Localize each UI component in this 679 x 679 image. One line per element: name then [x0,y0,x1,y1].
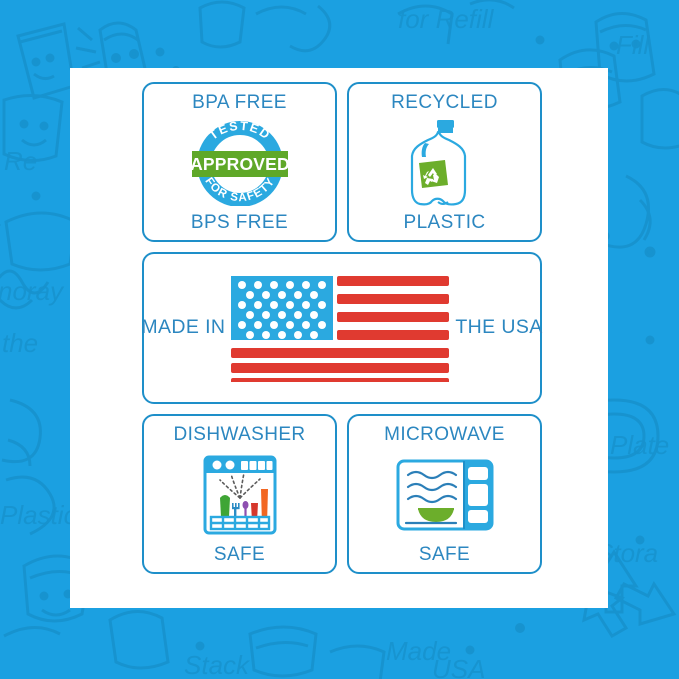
svg-text:FOR SAFETY: FOR SAFETY [202,175,277,204]
panel-dishwasher-safe-bottom-label: SAFE [214,545,265,564]
panel-recycled-plastic-bottom-label: PLASTIC [404,213,486,232]
badge-row-middle: MADE IN [142,252,542,404]
svg-text:Re: Re [4,146,37,176]
panel-made-in-usa[interactable]: MADE IN [142,252,542,404]
milk-jug-recycle-icon [355,112,534,213]
panel-recycled-plastic[interactable]: RECYCLED [347,82,542,242]
panel-made-in-usa-left-label: MADE IN [141,318,225,338]
panel-made-in-usa-right-label: THE USA [455,318,542,338]
svg-text:for Refill: for Refill [398,4,495,34]
svg-text:Fill: Fill [616,30,650,60]
svg-text:the: the [2,328,38,358]
svg-text:Plastic: Plastic [0,500,77,530]
svg-text:USA: USA [432,654,485,679]
panel-bpa-free[interactable]: BPA FREE TESTED FO [142,82,337,242]
badge-banner-text: APPROVED [190,154,290,174]
panel-bpa-free-bottom-label: BPS FREE [191,213,288,232]
panel-dishwasher-safe[interactable]: DISHWASHER [142,414,337,574]
panel-bpa-free-top-label: BPA FREE [192,93,287,112]
badge-card: BPA FREE TESTED FO [70,68,608,608]
badge-grid: BPA FREE TESTED FO [142,82,542,584]
badge-row-top: BPA FREE TESTED FO [142,82,542,242]
svg-text:Stack: Stack [184,650,251,679]
tested-approved-badge-icon: TESTED FOR SAFETY APPROVED [150,112,329,213]
dishwasher-icon [150,444,329,545]
badge-bottom-arc-text: FOR SAFETY [202,175,277,204]
svg-text:Plate: Plate [610,430,669,460]
panel-microwave-safe-top-label: MICROWAVE [384,425,505,444]
svg-text:noray: noray [0,276,65,306]
panel-dishwasher-safe-top-label: DISHWASHER [173,425,305,444]
usa-flag-icon [231,274,449,382]
panel-microwave-safe-bottom-label: SAFE [419,545,470,564]
badge-row-bottom: DISHWASHER [142,414,542,574]
microwave-icon [355,444,534,545]
panel-microwave-safe[interactable]: MICROWAVE [347,414,542,574]
panel-recycled-plastic-top-label: RECYCLED [391,93,498,112]
